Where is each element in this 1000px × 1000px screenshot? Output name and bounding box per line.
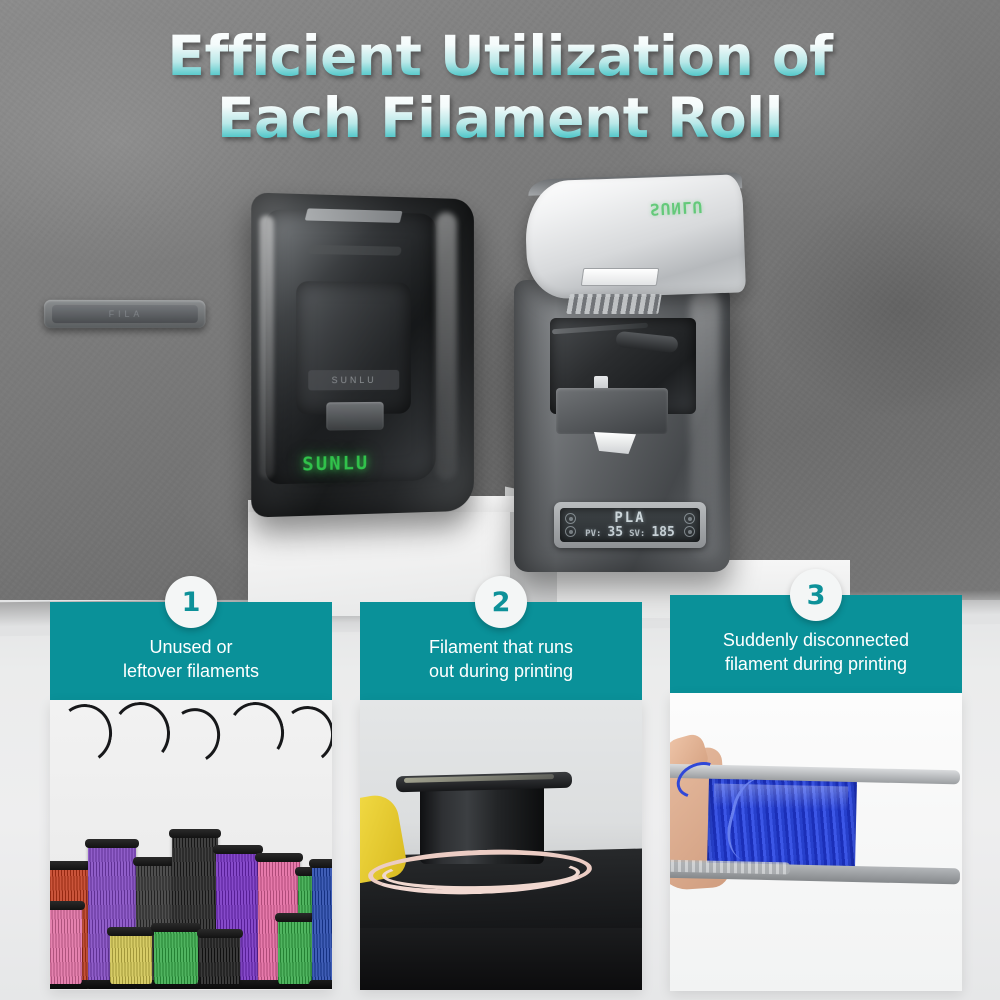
card-number-badge-3: 3 [790, 569, 842, 621]
feature-cards: 1 Unused or leftover filaments [0, 0, 1000, 1000]
card-photo-3-blue-spool [670, 693, 962, 991]
spool [200, 934, 240, 984]
spool [110, 932, 152, 984]
card-caption-1-line-2: leftover filaments [123, 660, 259, 684]
card-caption-1-line-1: Unused or [123, 636, 259, 660]
spool [154, 928, 198, 984]
feature-card-1: 1 Unused or leftover filaments [50, 602, 332, 990]
card-caption-3-line-2: filament during printing [723, 653, 909, 677]
spool-handle [223, 700, 289, 766]
card-number-badge-2: 2 [475, 576, 527, 628]
card-caption-2-line-2: out during printing [429, 660, 573, 684]
card-caption-2-line-1: Filament that runs [429, 636, 573, 660]
spool-handle [276, 702, 332, 767]
feature-card-3: 3 Suddenly disconnected filament during … [670, 595, 962, 991]
feature-card-2: 2 Filament that runs out during printing [360, 602, 642, 990]
spool-perforations [670, 859, 790, 874]
spool-handle [162, 702, 226, 769]
poster-stage: Efficient Utilization of Each Filament R… [0, 0, 1000, 1000]
spool [312, 864, 332, 984]
card-caption-3-line-1: Suddenly disconnected [723, 629, 909, 653]
printer-base [360, 928, 642, 990]
spool-handle [51, 700, 117, 768]
spool [50, 906, 82, 984]
spool-handle [109, 700, 173, 767]
card-photo-2-empty-spool [360, 700, 642, 990]
card-photo-1-filament-spools [50, 700, 332, 990]
card-number-badge-1: 1 [165, 576, 217, 628]
